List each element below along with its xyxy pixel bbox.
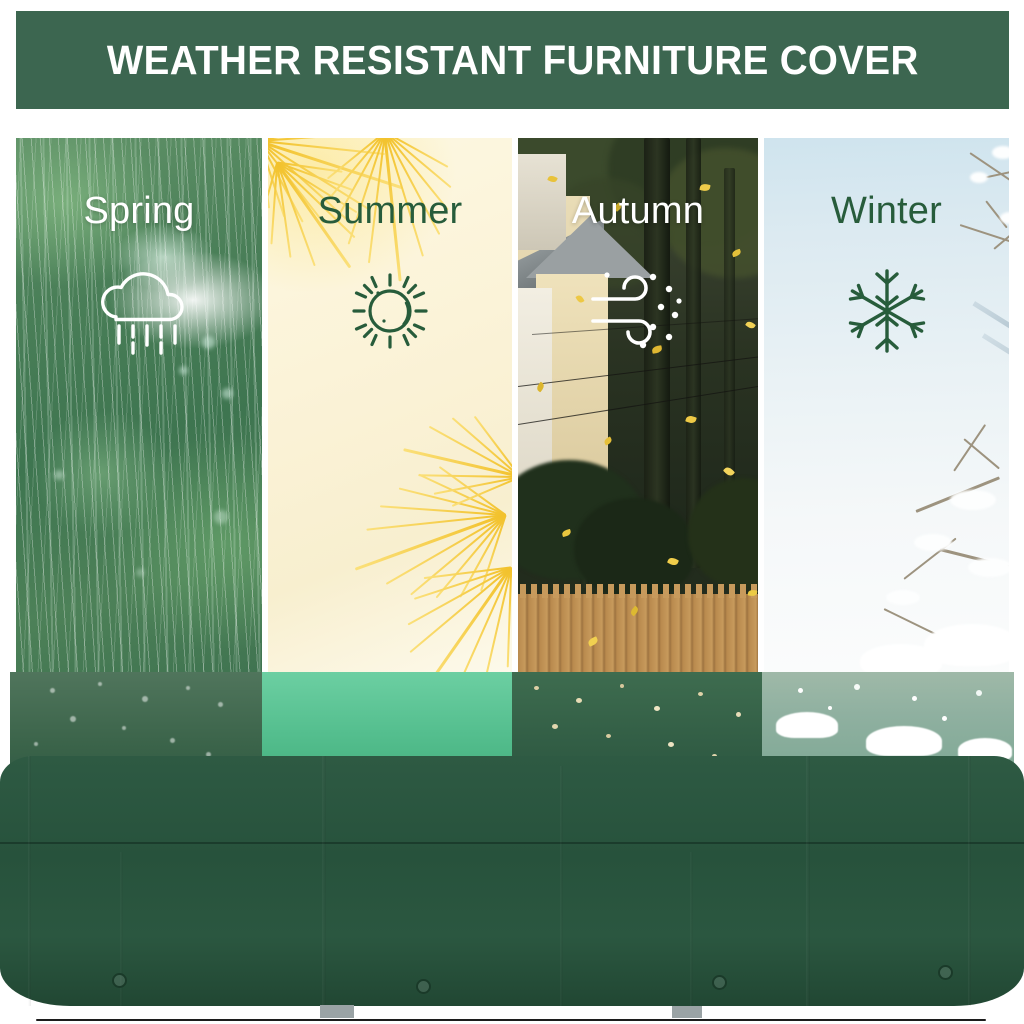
season-label-spring: Spring	[16, 190, 262, 233]
sun-icon	[268, 263, 512, 364]
season-panel-winter: Winter	[764, 138, 1009, 678]
wind-icon	[518, 263, 758, 364]
furniture-foot	[320, 1005, 354, 1018]
season-panel-autumn: Autumn	[518, 138, 758, 678]
cover-eyelet	[938, 965, 953, 980]
season-label-autumn: Autumn	[518, 190, 758, 233]
season-panel-strip: Spring	[16, 138, 1009, 678]
rain-cloud-icon	[16, 263, 262, 364]
furniture-cover-product	[0, 660, 1024, 1024]
season-panel-spring: Spring	[16, 138, 262, 678]
page-title: WEATHER RESISTANT FURNITURE COVER	[107, 37, 919, 84]
cover-eyelet	[112, 973, 127, 988]
season-label-summer: Summer	[268, 190, 512, 233]
season-label-winter: Winter	[764, 190, 1009, 233]
season-panel-summer: Summer	[268, 138, 512, 678]
cover-eyelet	[416, 979, 431, 994]
ground-shadow-line	[36, 1019, 986, 1021]
cover-eyelet	[712, 975, 727, 990]
header-banner: WEATHER RESISTANT FURNITURE COVER	[16, 11, 1009, 109]
product-infographic: WEATHER RESISTANT FURNITURE COVER Spring	[0, 0, 1024, 1024]
furniture-foot	[672, 1006, 702, 1018]
snowflake-icon	[764, 263, 1009, 364]
cover-body	[0, 756, 1024, 1006]
